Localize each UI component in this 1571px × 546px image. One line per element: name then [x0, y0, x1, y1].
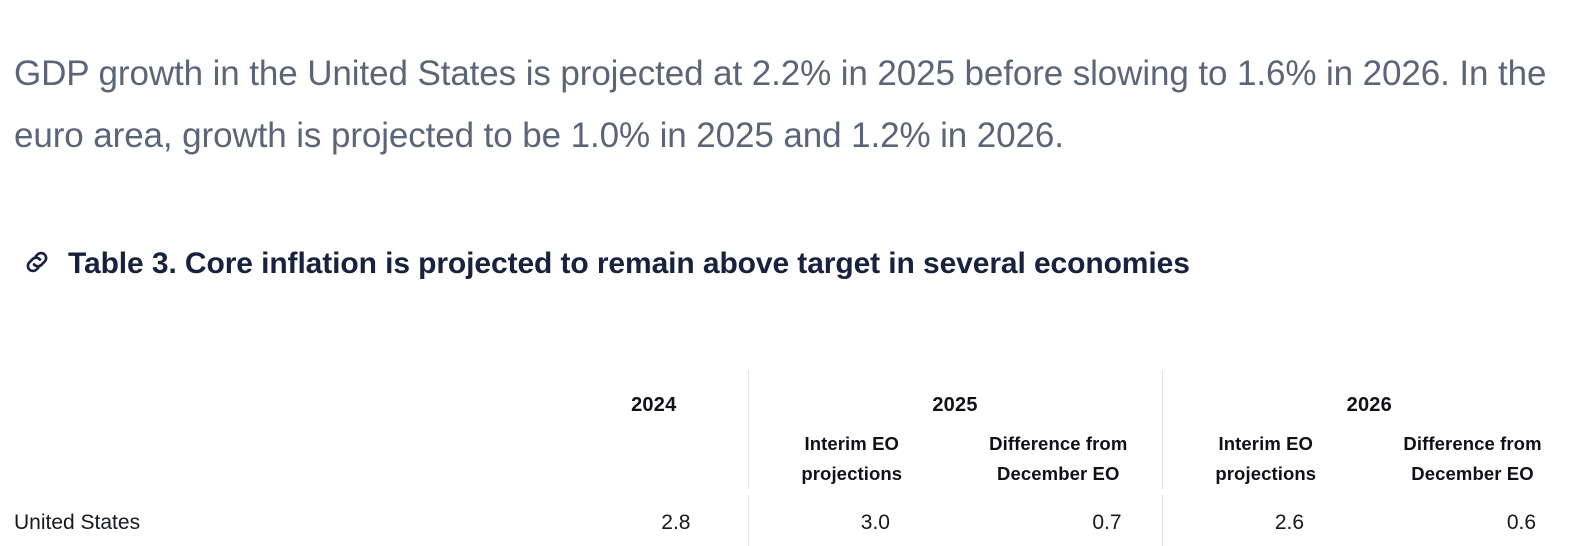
sub-header-2026-difference: Difference from December EO: [1369, 417, 1571, 489]
sub-header-row: Interim EO projections Difference from D…: [0, 417, 1571, 489]
row-header-blank: [0, 370, 560, 417]
sub-header-line-2: December EO: [955, 459, 1162, 489]
sub-header-line-1: Interim EO: [749, 429, 956, 459]
sub-header-2025-difference: Difference from December EO: [955, 417, 1162, 489]
cell-2026-interim: 2.6: [1162, 495, 1369, 546]
link-icon[interactable]: [22, 247, 52, 277]
sub-header-blank-2024: [560, 417, 748, 489]
cell-2024: 2.8: [560, 495, 748, 546]
sub-header-line-2: December EO: [1369, 459, 1571, 489]
year-group-header-row: 2024 2025 2026: [0, 370, 1571, 417]
sub-header-line-1: Interim EO: [1163, 429, 1370, 459]
cell-2025-interim: 3.0: [748, 495, 955, 546]
sub-header-2026-interim: Interim EO projections: [1162, 417, 1369, 489]
table-body: United States 2.8 3.0 0.7 2.6 0.6: [0, 495, 1571, 546]
sub-header-line-1: Difference from: [955, 429, 1162, 459]
sub-header-line-2: projections: [749, 459, 956, 489]
table-row: United States 2.8 3.0 0.7 2.6 0.6: [0, 495, 1571, 546]
sub-header-line-2: projections: [1163, 459, 1370, 489]
year-group-2025: 2025: [748, 370, 1162, 417]
intro-paragraph: GDP growth in the United States is proje…: [14, 43, 1559, 167]
sub-header-2025-interim: Interim EO projections: [748, 417, 955, 489]
row-label-united-states: United States: [0, 495, 560, 546]
core-inflation-table: 2024 2025 2026 Interim EO projections Di…: [0, 370, 1571, 546]
table-title: Table 3. Core inflation is projected to …: [68, 238, 1190, 290]
cell-2025-difference: 0.7: [955, 495, 1162, 546]
table-container: 2024 2025 2026 Interim EO projections Di…: [0, 370, 1571, 546]
sub-header-line-1: Difference from: [1369, 429, 1571, 459]
year-group-2026: 2026: [1162, 370, 1571, 417]
page-root: GDP growth in the United States is proje…: [0, 0, 1571, 546]
table-heading: Table 3. Core inflation is projected to …: [22, 238, 1322, 290]
cell-2026-difference: 0.6: [1369, 495, 1571, 546]
sub-header-blank-name: [0, 417, 560, 489]
table-head: 2024 2025 2026 Interim EO projections Di…: [0, 370, 1571, 495]
year-group-2024: 2024: [560, 370, 748, 417]
